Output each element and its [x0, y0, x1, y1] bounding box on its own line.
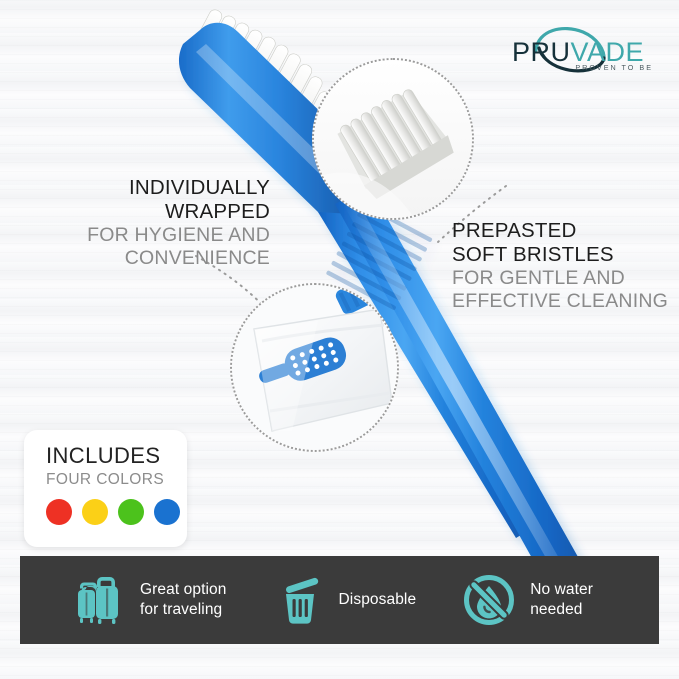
luggage-icon: [72, 575, 126, 625]
no-water-icon: [462, 573, 516, 627]
headline-line-2: SOFT BRISTLES: [452, 243, 678, 267]
banner-feature-no-water: No water needed: [462, 573, 593, 627]
callout-circle-individually-wrapped: [230, 283, 399, 452]
logo-word-pru: PRU: [512, 37, 571, 67]
headline-line-1: PREPASTED: [452, 219, 678, 243]
banner-feature-label: No water needed: [530, 580, 593, 620]
includes-subtitle: FOUR COLORS: [46, 472, 164, 488]
callout-circle-prepasted-bristles: [312, 58, 474, 220]
trash-can-icon: [275, 575, 325, 625]
color-swatch-blue: [154, 499, 180, 525]
banner-feature-disposable: Disposable: [275, 575, 417, 625]
feature-banner: Great option for traveling Disposable: [20, 556, 659, 644]
subline-line-2: CONVENIENCE: [40, 247, 270, 270]
infographic-canvas: PRUVADE PROVEN TO BE INDIVIDUALLY WRAPPE…: [0, 0, 679, 679]
subline-line-2: EFFECTIVE CLEANING: [452, 290, 678, 313]
includes-title: INCLUDES: [46, 445, 160, 467]
color-swatch-green: [118, 499, 144, 525]
banner-feature-label: Great option for traveling: [140, 580, 227, 620]
headline-line-1: INDIVIDUALLY: [40, 176, 270, 200]
banner-feature-traveling: Great option for traveling: [72, 575, 227, 625]
bristle-closeup-image: [314, 60, 472, 218]
banner-feature-label: Disposable: [339, 590, 417, 610]
feature-text-prepasted-bristles: PREPASTED SOFT BRISTLES FOR GENTLE AND E…: [452, 219, 678, 314]
color-swatch-group: [46, 499, 180, 525]
brand-logo: PRUVADE PROVEN TO BE: [505, 22, 657, 74]
color-swatch-yellow: [82, 499, 108, 525]
logo-tagline: PROVEN TO BE: [575, 63, 653, 72]
logo-wordmark: PRUVADE: [512, 39, 644, 66]
headline-line-2: WRAPPED: [40, 200, 270, 224]
includes-four-colors-card: INCLUDES FOUR COLORS: [24, 430, 187, 547]
wrapped-brush-image: [232, 285, 397, 450]
color-swatch-red: [46, 499, 72, 525]
subline-line-1: FOR HYGIENE AND: [40, 224, 270, 247]
feature-text-individually-wrapped: INDIVIDUALLY WRAPPED FOR HYGIENE AND CON…: [40, 176, 270, 271]
subline-line-1: FOR GENTLE AND: [452, 267, 678, 290]
